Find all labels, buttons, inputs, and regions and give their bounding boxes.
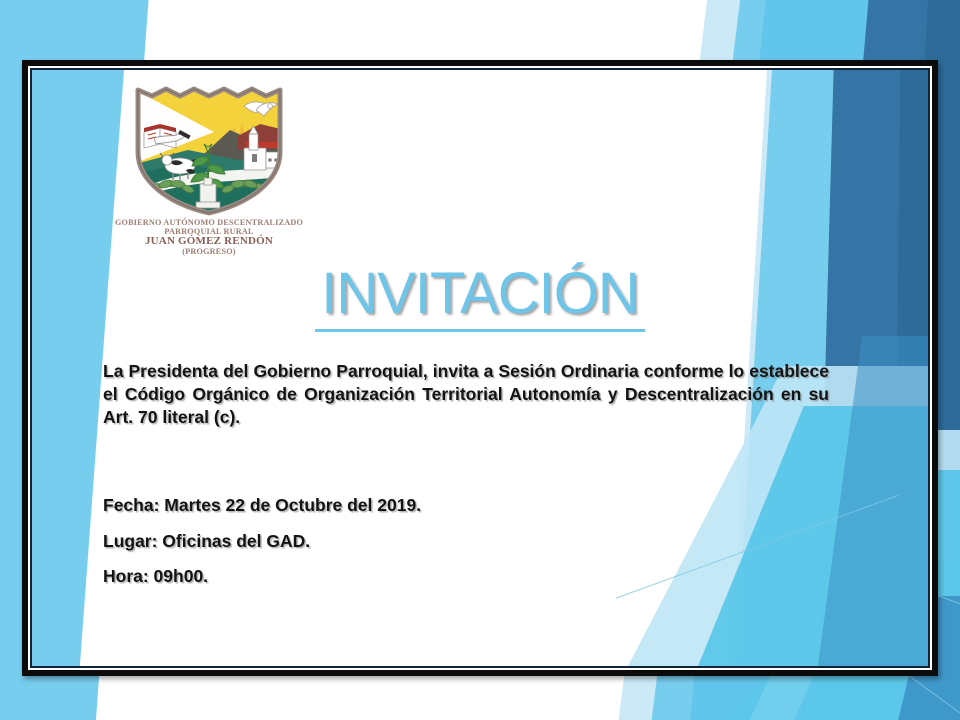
invitation-frame: GOBIERNO AUTÓNOMO DESCENTRALIZADO PARROQ… <box>22 60 938 676</box>
invitation-slide: GOBIERNO AUTÓNOMO DESCENTRALIZADO PARROQ… <box>0 0 960 720</box>
page-title-text: INVITACIÓN <box>315 260 645 332</box>
organization-caption: GOBIERNO AUTÓNOMO DESCENTRALIZADO PARROQ… <box>104 219 314 257</box>
coat-of-arms-icon <box>118 80 300 218</box>
detail-row-hora: Hora: 09h00. <box>103 568 803 586</box>
invitation-paragraph: La Presidenta del Gobierno Parroquial, i… <box>103 360 829 429</box>
detail-row-lugar: Lugar: Oficinas del GAD. <box>103 533 803 551</box>
organization-logo: GOBIERNO AUTÓNOMO DESCENTRALIZADO PARROQ… <box>104 80 314 257</box>
frame-inner-gap: GOBIERNO AUTÓNOMO DESCENTRALIZADO PARROQ… <box>28 66 932 670</box>
caption-line-4: (PROGRESO) <box>104 248 314 257</box>
detail-row-fecha: Fecha: Martes 22 de Octubre del 2019. <box>103 497 803 515</box>
invitation-card: GOBIERNO AUTÓNOMO DESCENTRALIZADO PARROQ… <box>30 68 930 668</box>
card-content: GOBIERNO AUTÓNOMO DESCENTRALIZADO PARROQ… <box>32 70 928 666</box>
event-details: Fecha: Martes 22 de Octubre del 2019. Lu… <box>103 497 803 604</box>
page-title: INVITACIÓN <box>32 260 928 332</box>
